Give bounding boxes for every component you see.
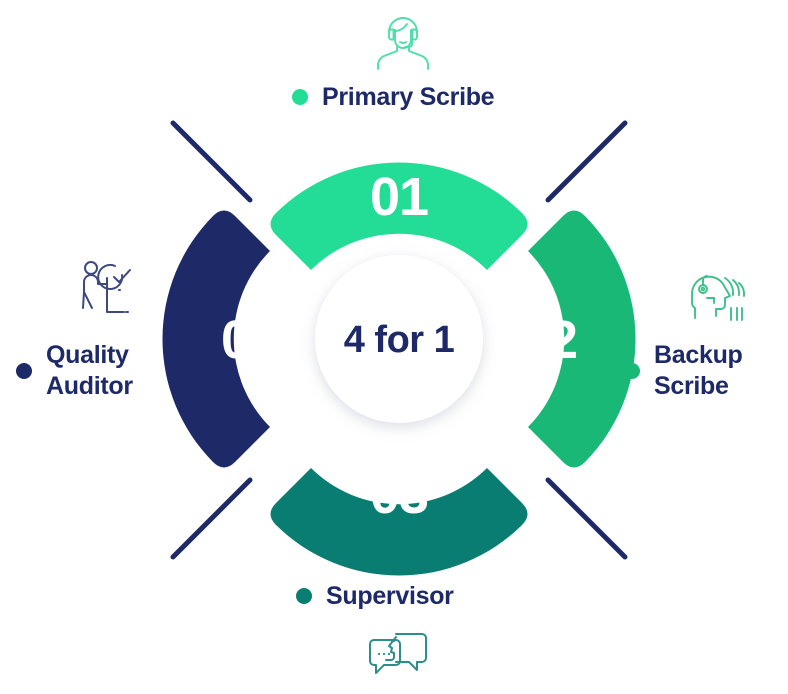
bullet-dot-backup-scribe bbox=[624, 363, 640, 379]
segment-01-number: 01 bbox=[370, 167, 428, 227]
segment-03-number: 03 bbox=[370, 465, 428, 525]
label-backup-scribe-text: Backup Scribe bbox=[654, 340, 743, 401]
label-primary-scribe[interactable]: Primary Scribe bbox=[292, 82, 494, 113]
accent-line-top-left bbox=[173, 123, 250, 200]
segment-04[interactable]: 04 bbox=[162, 211, 280, 468]
bullet-dot-supervisor bbox=[296, 588, 312, 604]
speech-bubbles-profile-icon bbox=[368, 628, 430, 691]
accent-line-top-right bbox=[548, 123, 625, 200]
bullet-dot-primary-scribe bbox=[292, 89, 308, 105]
label-supervisor[interactable]: Supervisor bbox=[296, 581, 454, 612]
segment-02-number: 02 bbox=[519, 310, 577, 370]
bullet-dot-quality-auditor bbox=[16, 363, 32, 379]
infographic-canvas: 01 02 03 04 4 for 1 bbox=[0, 0, 788, 694]
segment-02[interactable]: 02 bbox=[519, 211, 636, 468]
accent-line-bottom-left bbox=[173, 480, 250, 557]
segment-03[interactable]: 03 bbox=[271, 465, 528, 576]
label-quality-auditor[interactable]: Quality Auditor bbox=[16, 340, 133, 401]
stacked-headset-profiles-icon bbox=[687, 264, 749, 331]
headset-operator-icon bbox=[377, 6, 429, 79]
label-supervisor-text: Supervisor bbox=[326, 581, 454, 612]
label-primary-scribe-text: Primary Scribe bbox=[322, 82, 494, 113]
center-label: 4 for 1 bbox=[344, 319, 455, 361]
accent-line-bottom-right bbox=[548, 480, 625, 557]
segment-04-number: 04 bbox=[221, 310, 280, 370]
label-quality-auditor-text: Quality Auditor bbox=[46, 340, 133, 401]
person-checkmark-icon bbox=[76, 256, 142, 327]
label-backup-scribe[interactable]: Backup Scribe bbox=[624, 340, 743, 401]
segment-01[interactable]: 01 bbox=[271, 162, 528, 270]
center-hub: 4 for 1 bbox=[315, 255, 483, 423]
